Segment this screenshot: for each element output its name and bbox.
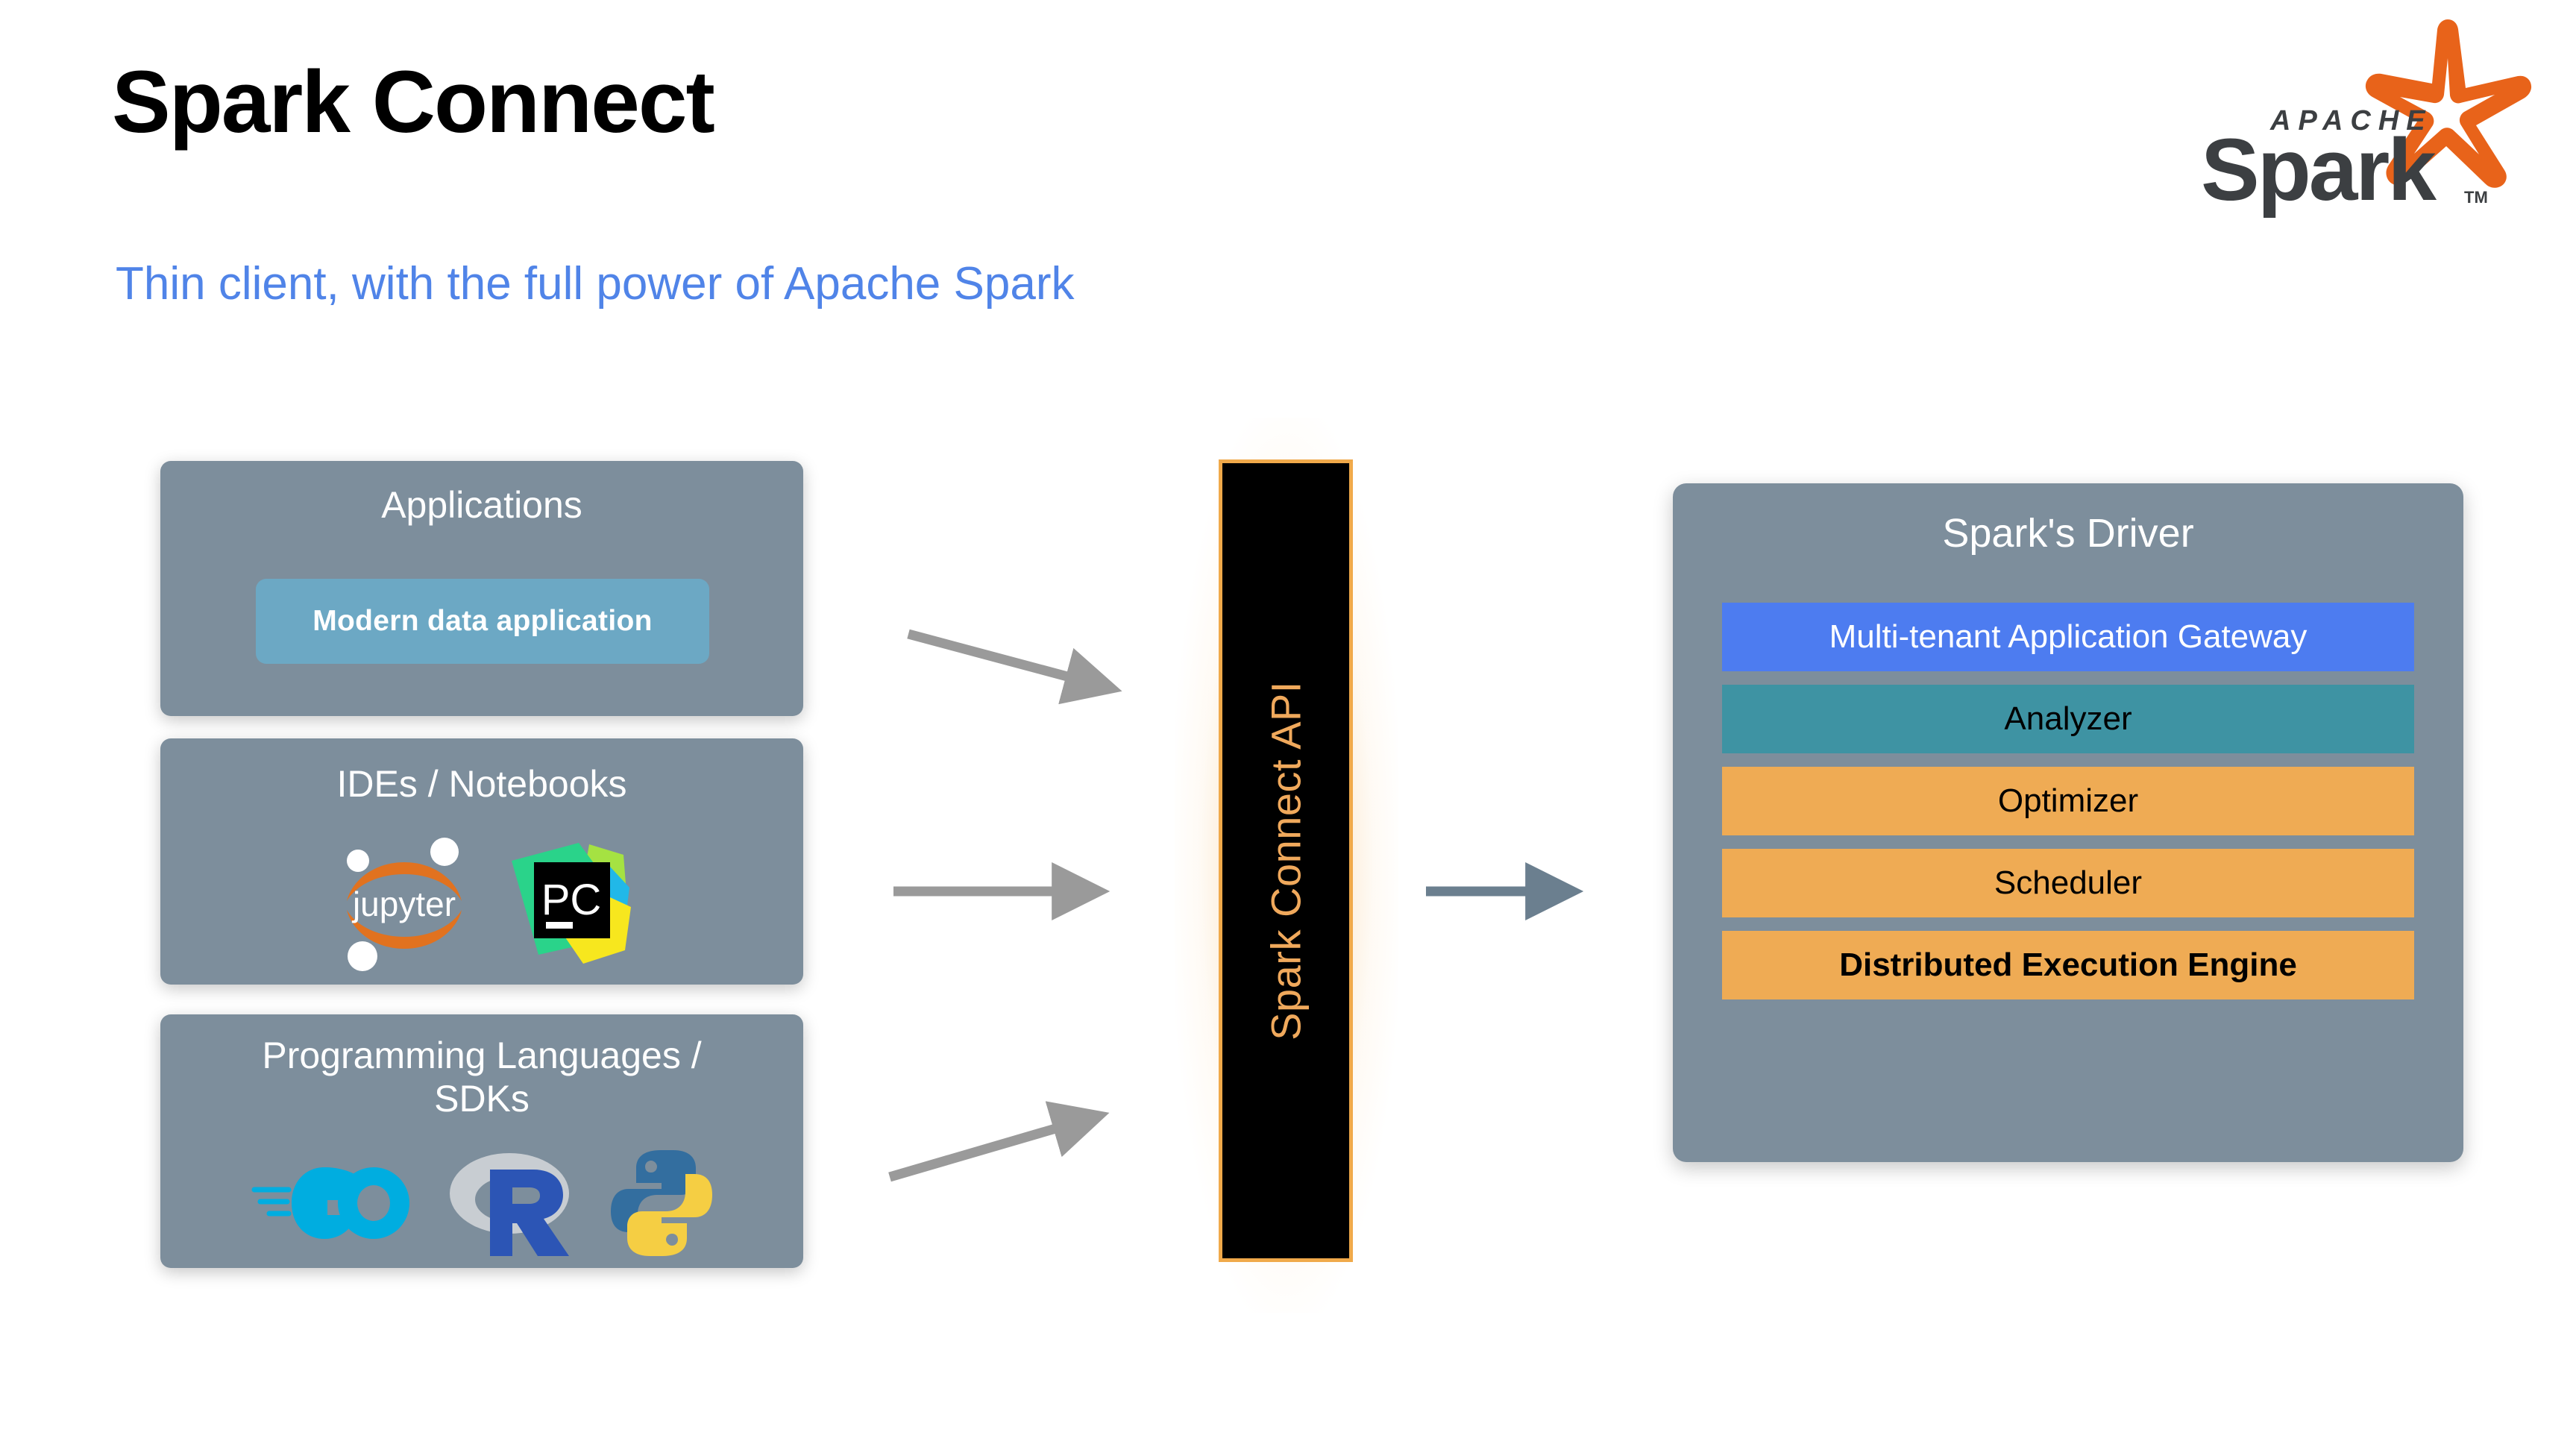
card-ides-notebooks[interactable]: IDEs / Notebooks jupyter <box>160 738 803 985</box>
sparks-driver-title: Spark's Driver <box>1673 510 2463 556</box>
card-ides-title: IDEs / Notebooks <box>160 762 803 806</box>
driver-row-optimizer[interactable]: Optimizer <box>1722 767 2414 835</box>
go-wordmark: GO <box>250 1158 268 1161</box>
card-applications[interactable]: Applications Modern data application <box>160 461 803 716</box>
driver-row-gateway[interactable]: Multi-tenant Application Gateway <box>1722 603 2414 671</box>
r-logo: R <box>444 1147 578 1259</box>
spark-connect-api-bar[interactable]: Spark Connect API <box>1219 459 1353 1262</box>
card-languages-title-line2: SDKs <box>434 1078 530 1120</box>
page-title: Spark Connect <box>112 58 714 146</box>
svg-text:TM: TM <box>2464 188 2488 207</box>
card-languages-title-line1: Programming Languages / <box>262 1035 701 1076</box>
sparks-driver-panel[interactable]: Spark's Driver Multi-tenant Application … <box>1673 483 2463 1162</box>
driver-component-list: Multi-tenant Application Gateway Analyze… <box>1722 603 2414 999</box>
slide-canvas: Spark Connect Thin client, with the full… <box>0 0 2576 1447</box>
go-logo: GO <box>250 1158 412 1248</box>
pycharm-logo: PC <box>506 841 631 967</box>
svg-text:Spark: Spark <box>2201 121 2437 218</box>
arrow-languages-to-api <box>890 1117 1096 1177</box>
r-wordmark: R <box>444 1147 453 1150</box>
driver-row-analyzer[interactable]: Analyzer <box>1722 685 2414 753</box>
driver-row-distributed-execution-engine[interactable]: Distributed Execution Engine <box>1722 931 2414 999</box>
language-logo-row: GO R <box>160 1147 803 1259</box>
arrow-applications-to-api <box>908 634 1109 688</box>
ide-logo-row: jupyter PC <box>160 832 803 976</box>
apache-spark-logo: APACHE Spark TM <box>2160 16 2533 218</box>
page-subtitle: Thin client, with the full power of Apac… <box>116 261 1074 307</box>
modern-data-application-pill[interactable]: Modern data application <box>256 579 709 664</box>
jupyter-wordmark: jupyter <box>351 885 456 923</box>
card-programming-languages[interactable]: Programming Languages / SDKs GO <box>160 1014 803 1268</box>
pycharm-wordmark: PC <box>541 876 602 924</box>
card-languages-title: Programming Languages / SDKs <box>160 1034 803 1120</box>
python-logo <box>609 1149 714 1258</box>
jupyter-logo: jupyter <box>333 832 476 976</box>
driver-row-scheduler[interactable]: Scheduler <box>1722 849 2414 917</box>
card-applications-title: Applications <box>160 483 803 527</box>
spark-connect-api-label: Spark Connect API <box>1262 681 1310 1040</box>
